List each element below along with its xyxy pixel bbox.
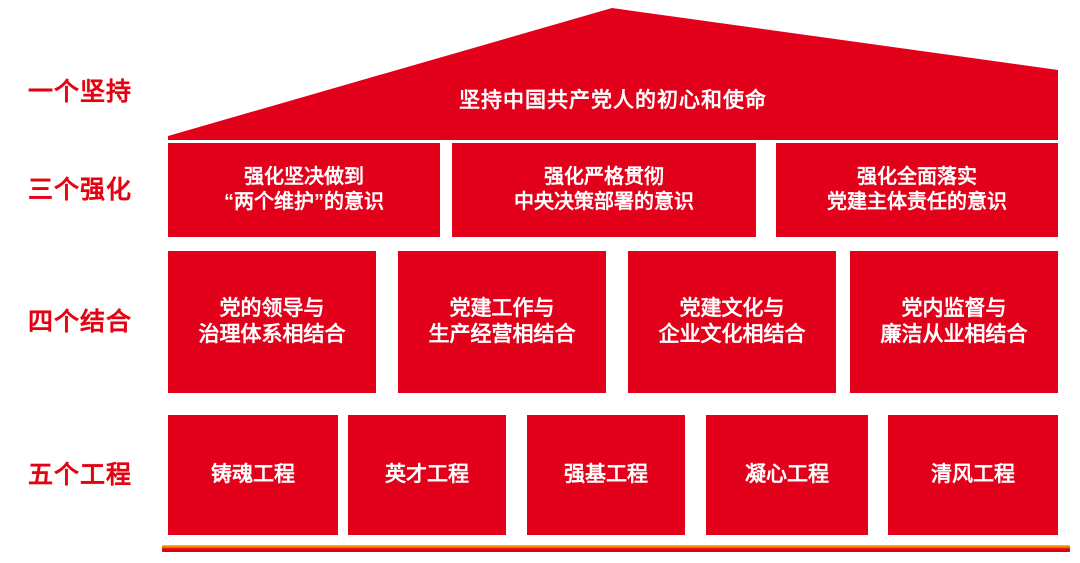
side-label-one-persistence: 一个坚持 xyxy=(0,80,160,105)
roof-text: 坚持中国共产党人的初心和使命 xyxy=(168,90,1058,111)
strengthen-box-1-line1: 强化坚决做到 xyxy=(224,165,384,190)
strengthen-box-3-line1: 强化全面落实 xyxy=(827,165,1007,190)
strengthen-box-2-line2: 中央决策部署的意识 xyxy=(514,190,694,215)
combine-box-2-line1: 党建工作与 xyxy=(429,296,576,322)
project-box-2-label: 英才工程 xyxy=(385,462,469,488)
combine-box-4[interactable]: 党内监督与 廉洁从业相结合 xyxy=(850,251,1058,393)
strengthen-box-3-line2: 党建主体责任的意识 xyxy=(827,190,1007,215)
combine-box-2-line2: 生产经营相结合 xyxy=(429,322,576,348)
strengthen-box-1[interactable]: 强化坚决做到 “两个维护”的意识 xyxy=(168,143,440,237)
combine-box-1-line1: 党的领导与 xyxy=(199,296,346,322)
project-box-4-label: 凝心工程 xyxy=(745,462,829,488)
combine-box-4-line2: 廉洁从业相结合 xyxy=(881,322,1028,348)
roof-shape: 坚持中国共产党人的初心和使命 xyxy=(168,8,1058,140)
project-box-3-label: 强基工程 xyxy=(564,462,648,488)
combine-box-3-line1: 党建文化与 xyxy=(659,296,806,322)
project-box-5[interactable]: 清风工程 xyxy=(888,415,1058,535)
strengthen-box-1-line2: “两个维护”的意识 xyxy=(224,190,384,215)
strengthen-box-2[interactable]: 强化严格贯彻 中央决策部署的意识 xyxy=(452,143,756,237)
combine-box-3[interactable]: 党建文化与 企业文化相结合 xyxy=(628,251,836,393)
combine-box-1-line2: 治理体系相结合 xyxy=(199,322,346,348)
project-box-1[interactable]: 铸魂工程 xyxy=(168,415,338,535)
project-box-1-label: 铸魂工程 xyxy=(211,462,295,488)
foundation-baseline xyxy=(162,545,1070,552)
project-box-4[interactable]: 凝心工程 xyxy=(706,415,868,535)
diagram-canvas: 一个坚持 三个强化 四个结合 五个工程 坚持中国共产党人的初心和使命 强化坚决做… xyxy=(0,0,1080,563)
side-label-four-combine: 四个结合 xyxy=(0,310,160,335)
combine-box-4-line1: 党内监督与 xyxy=(881,296,1028,322)
combine-box-3-line2: 企业文化相结合 xyxy=(659,322,806,348)
combine-box-1[interactable]: 党的领导与 治理体系相结合 xyxy=(168,251,376,393)
combine-box-2[interactable]: 党建工作与 生产经营相结合 xyxy=(398,251,606,393)
project-box-2[interactable]: 英才工程 xyxy=(348,415,506,535)
side-label-three-strengthen: 三个强化 xyxy=(0,178,160,203)
strengthen-box-2-line1: 强化严格贯彻 xyxy=(514,165,694,190)
strengthen-box-3[interactable]: 强化全面落实 党建主体责任的意识 xyxy=(776,143,1058,237)
project-box-3[interactable]: 强基工程 xyxy=(527,415,685,535)
side-label-five-projects: 五个工程 xyxy=(0,463,160,488)
project-box-5-label: 清风工程 xyxy=(931,462,1015,488)
